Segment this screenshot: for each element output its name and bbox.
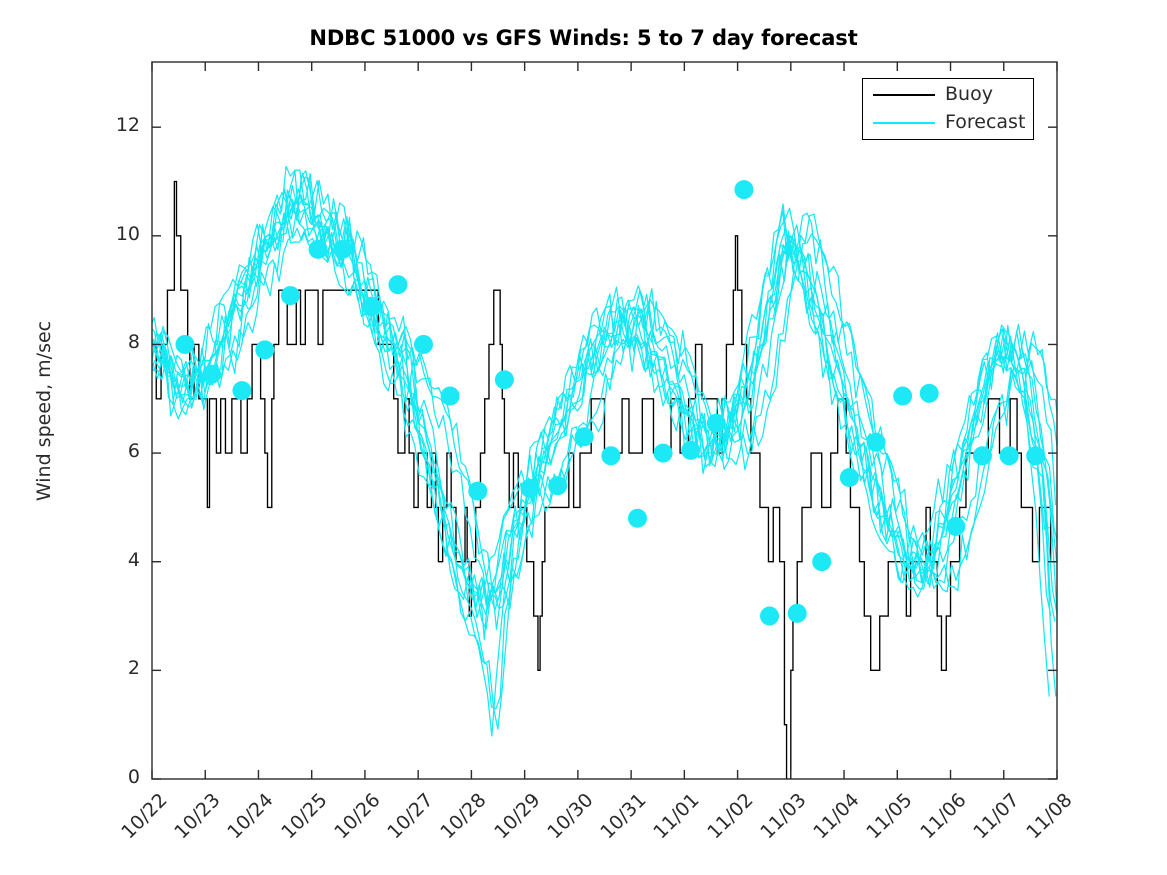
legend-label-buoy: Buoy — [945, 83, 993, 105]
legend[interactable]: Buoy Forecast — [862, 78, 1034, 140]
y-tick-label: 8 — [94, 331, 140, 353]
y-tick-label: 10 — [94, 223, 140, 245]
y-tick-label: 4 — [94, 549, 140, 571]
legend-label-forecast: Forecast — [945, 111, 1025, 133]
legend-item-buoy[interactable]: Buoy — [863, 81, 1035, 109]
y-tick-label: 2 — [94, 657, 140, 679]
legend-swatch-forecast — [873, 122, 935, 124]
y-tick-label: 12 — [94, 114, 140, 136]
legend-swatch-buoy — [873, 94, 935, 96]
figure-canvas: NDBC 51000 vs GFS Winds: 5 to 7 day fore… — [0, 0, 1167, 875]
y-tick-label: 0 — [94, 766, 140, 788]
legend-item-forecast[interactable]: Forecast — [863, 109, 1035, 137]
y-tick-label: 6 — [94, 440, 140, 462]
